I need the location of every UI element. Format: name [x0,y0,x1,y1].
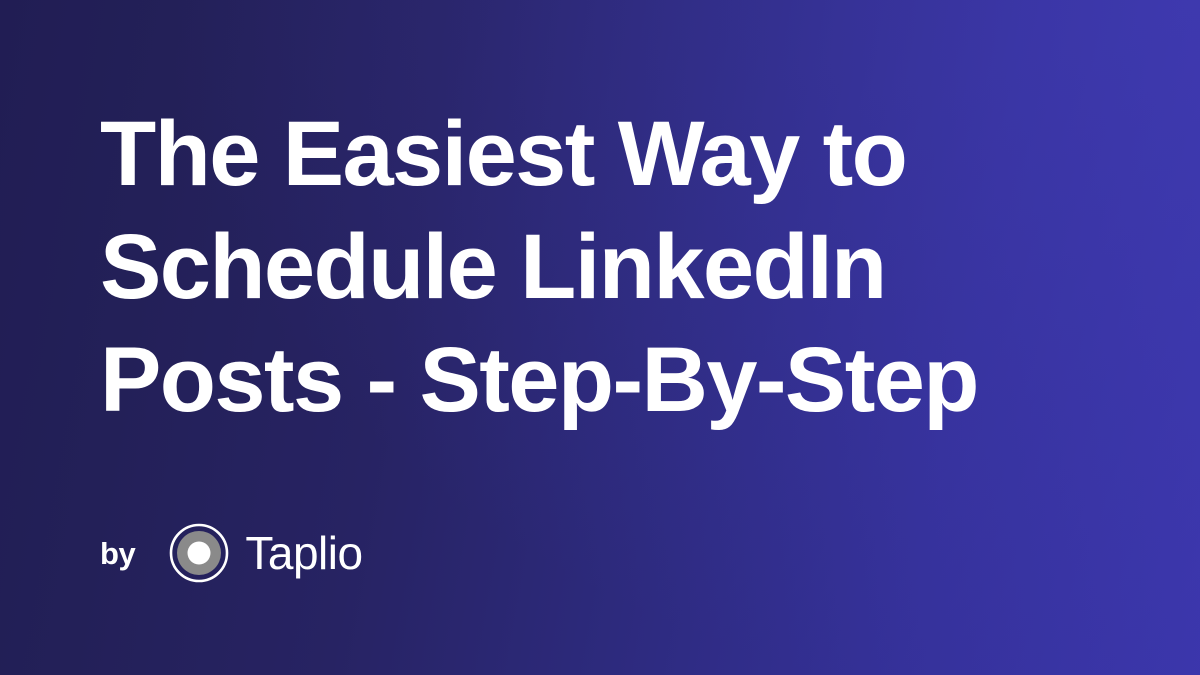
page-title: The Easiest Way to Schedule LinkedIn Pos… [100,98,1140,437]
byline: by Taplio [100,522,363,584]
cover-content: The Easiest Way to Schedule LinkedIn Pos… [0,0,1200,675]
byline-prefix: by [100,538,135,569]
brand-name: Taplio [245,530,362,576]
taplio-circle-logo-icon [169,523,229,583]
cover-canvas: The Easiest Way to Schedule LinkedIn Pos… [0,0,1200,675]
